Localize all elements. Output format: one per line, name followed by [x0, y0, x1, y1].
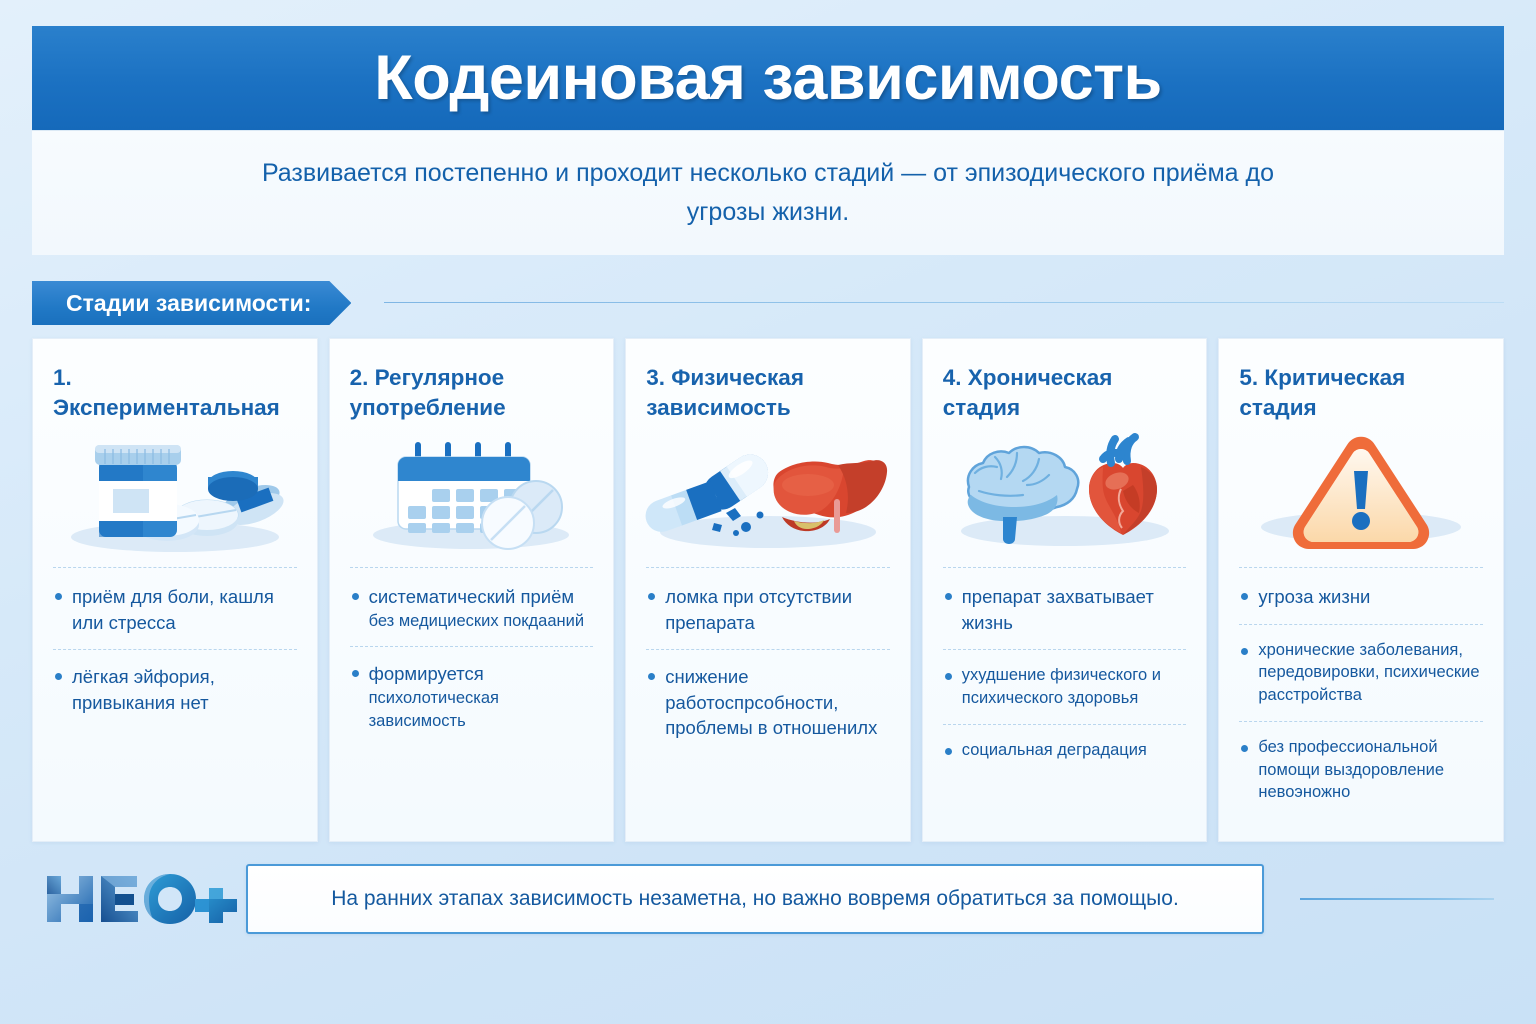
bullet-list: препарат захватывает жизнь ухудшение физ…: [943, 567, 1187, 775]
list-item: систематический приём без медициеских по…: [350, 567, 594, 646]
bullet-list: угроза жизни хронические заболевания, пе…: [1239, 567, 1483, 818]
bullet-text: угроза жизни: [1258, 584, 1370, 610]
bullet-list: систематический приём без медициеских по…: [350, 567, 594, 746]
bullet-text: хронические заболевания, передовировки, …: [1258, 639, 1483, 707]
footer: На ранних этапах зависимость незаметна, …: [32, 858, 1504, 940]
section-tag-stages: Стадии зависимости:: [32, 281, 351, 325]
footer-note-text: На ранних этапах зависимость незаметна, …: [331, 887, 1179, 911]
footer-divider-rule: [1300, 898, 1494, 900]
list-item: ломка при отсутствии препарата: [646, 567, 890, 649]
list-item: формируется психолотическая зависимость: [350, 646, 594, 746]
subtitle-text: Развивается постепенно и проходит нескол…: [238, 154, 1298, 232]
list-item: социальная деградация: [943, 724, 1187, 776]
section-divider-rule: [384, 302, 1504, 303]
stage-card-4: 4. Хроническая стадия: [922, 338, 1208, 842]
list-item: приём для боли, кашля или стресса: [53, 567, 297, 649]
bullet-dot-icon: [55, 673, 62, 680]
bullet-text: лёгкая эйфория, привыкания нет: [72, 664, 297, 715]
stage-card-2: 2. Регулярное употребление: [329, 338, 615, 842]
stage-card-1: 1. Экспериментальная: [32, 338, 318, 842]
capsule-liver-icon: [646, 427, 890, 555]
page-title: Кодеиновая зависимость: [374, 42, 1161, 114]
list-item: препарат захватывает жизнь: [943, 567, 1187, 649]
brain-heart-icon: [943, 427, 1187, 555]
warning-triangle-icon: [1239, 427, 1483, 555]
stage-title: 5. Критическая стадия: [1239, 363, 1483, 425]
bullet-dot-icon: [55, 593, 62, 600]
bullet-dot-icon: [945, 593, 952, 600]
bullet-text: ломка при отсутствии препарата: [665, 584, 890, 635]
stage-card-list: 1. Экспериментальная: [32, 338, 1504, 842]
list-item: хронические заболевания, передовировки, …: [1239, 624, 1483, 721]
footer-note-box: На ранних этапах зависимость незаметна, …: [246, 864, 1264, 934]
bullet-dot-icon: [1241, 745, 1248, 752]
bullet-dot-icon: [352, 670, 359, 677]
calendar-pills-icon: [350, 427, 594, 555]
list-item: ухудшение физического и психического здо…: [943, 649, 1187, 724]
stage-title: 3. Физическая зависимость: [646, 363, 890, 425]
stage-card-3: 3. Физическая зависимость: [625, 338, 911, 842]
bullet-dot-icon: [648, 673, 655, 680]
bullet-list: приём для боли, кашля или стресса лёгкая…: [53, 567, 297, 729]
list-item: снижение работоспрсобности, проблемы в о…: [646, 649, 890, 755]
bullet-dot-icon: [1241, 648, 1248, 655]
neo-plus-logo-icon: [39, 868, 239, 930]
list-item: лёгкая эйфория, привыкания нет: [53, 649, 297, 729]
subtitle-band: Развивается постепенно и проходит нескол…: [32, 130, 1504, 255]
bullet-text: снижение работоспрсобности, проблемы в о…: [665, 664, 890, 741]
stage-title: 2. Регулярное употребление: [350, 363, 594, 425]
header-band: Кодеиновая зависимость: [32, 26, 1504, 130]
stage-title: 1. Экспериментальная: [53, 363, 297, 425]
bullet-list: ломка при отсутствии препарата снижение …: [646, 567, 890, 755]
pill-bottle-icon: [53, 427, 297, 555]
brand-logo: [32, 868, 246, 930]
stage-title: 4. Хроническая стадия: [943, 363, 1187, 425]
bullet-subtext: без медициеских покдааний: [369, 612, 584, 630]
bullet-text: препарат захватывает жизнь: [962, 584, 1187, 635]
infographic-page: Кодеиновая зависимость Развивается посте…: [0, 0, 1536, 1024]
bullet-subtext: психолотическая зависимость: [369, 689, 499, 730]
section-tag-area: Стадии зависимости:: [32, 281, 1504, 325]
bullet-text: ухудшение физического и психического здо…: [962, 664, 1187, 710]
bullet-text: социальная деградация: [962, 739, 1147, 762]
bullet-dot-icon: [1241, 593, 1248, 600]
bullet-text: приём для боли, кашля или стресса: [72, 584, 297, 635]
bullet-text: без профессиональной помощи выздоровлени…: [1258, 736, 1483, 804]
stage-card-5: 5. Критическая стадия: [1218, 338, 1504, 842]
bullet-text: систематический приём: [369, 586, 575, 607]
bullet-dot-icon: [945, 673, 952, 680]
bullet-text: формируется: [369, 663, 484, 684]
bullet-dot-icon: [648, 593, 655, 600]
list-item: без профессиональной помощи выздоровлени…: [1239, 721, 1483, 818]
bullet-dot-icon: [945, 748, 952, 755]
bullet-dot-icon: [352, 593, 359, 600]
list-item: угроза жизни: [1239, 567, 1483, 624]
